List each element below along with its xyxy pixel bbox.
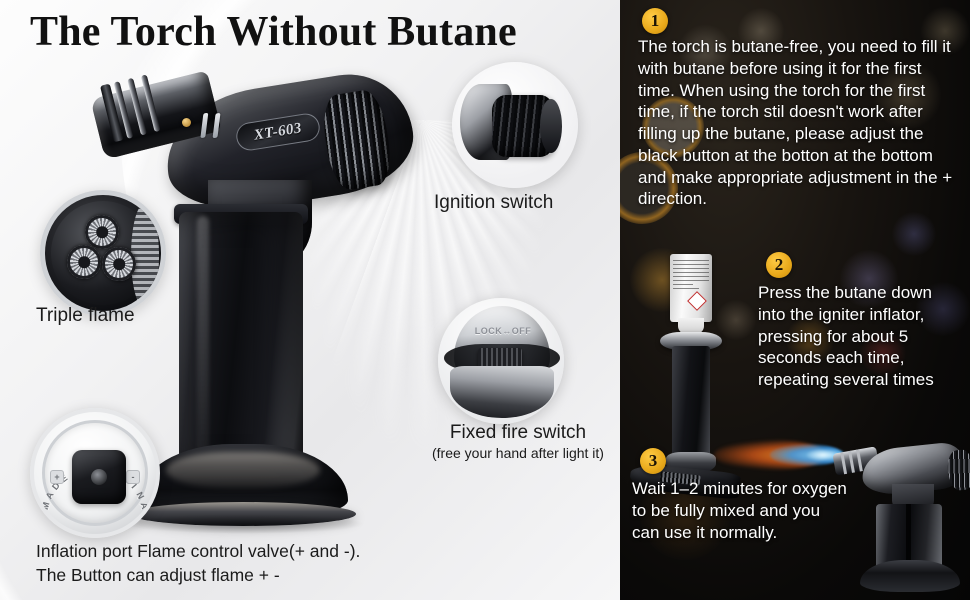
ignition-switch-inset xyxy=(452,62,578,188)
step-badge-3: 3 xyxy=(640,448,666,474)
torch-tank xyxy=(179,212,303,470)
plus-marker: + xyxy=(50,470,64,484)
instruction-step-1: 1 The torch is butane-free, you need to … xyxy=(638,8,958,210)
page-title: The Torch Without Butane xyxy=(30,8,517,56)
ignition-switch-label: Ignition switch xyxy=(434,192,553,214)
step-badge-2: 2 xyxy=(766,252,792,278)
instruction-step-3: 3 Wait 1–2 minutes for oxygen to be full… xyxy=(632,448,852,543)
fixed-fire-switch-title: Fixed fire switch xyxy=(450,422,586,443)
torch-shadow xyxy=(124,514,366,534)
fixed-fire-switch-inset: LOCK↔OFF xyxy=(438,298,564,424)
instruction-step-2: 2 Press the butane down into the igniter… xyxy=(758,252,954,391)
caption-line-1: Inflation port Flame control valve(+ and… xyxy=(36,540,360,564)
inverted-torch-tank xyxy=(672,346,710,456)
burner-nozzle-2 xyxy=(67,245,101,279)
hazard-diamond-icon xyxy=(687,291,707,311)
caption-line-2: The Button can adjust flame + - xyxy=(36,564,360,588)
step-text-1: The torch is butane-free, you need to fi… xyxy=(638,36,958,210)
torch-brass-screw xyxy=(182,118,191,127)
bokeh-light-9 xyxy=(892,212,936,256)
minus-marker: - xyxy=(126,470,140,484)
inflation-port-inset: MADE IN CHINA + - xyxy=(30,408,160,538)
product-panel: The Torch Without Butane XT-603 LOCK↔OFF xyxy=(0,0,620,600)
butane-canister xyxy=(670,254,712,322)
infographic-page: The Torch Without Butane XT-603 LOCK↔OFF xyxy=(0,0,970,600)
ignition-knob xyxy=(492,95,554,157)
step-text-3: Wait 1–2 minutes for oxygen to be fully … xyxy=(632,478,852,543)
lit-torch-base xyxy=(860,560,960,592)
fixed-fire-switch-label: Fixed fire switch (free your hand after … xyxy=(418,422,618,461)
burner-nozzle-3 xyxy=(102,247,136,281)
triple-flame-inset xyxy=(40,190,166,316)
instructions-panel: 1 The torch is butane-free, you need to … xyxy=(620,0,970,600)
step-badge-1: 1 xyxy=(642,8,668,34)
burner-nozzle-1 xyxy=(85,215,119,249)
flame-control-valve xyxy=(72,450,126,504)
burner-rim xyxy=(131,203,159,309)
lock-off-engraving: LOCK↔OFF xyxy=(466,326,540,336)
triple-flame-label: Triple flame xyxy=(36,305,135,327)
bottom-caption: Inflation port Flame control valve(+ and… xyxy=(36,540,360,587)
switch-base xyxy=(450,366,554,418)
fixed-fire-switch-subtitle: (free your hand after light it) xyxy=(418,445,618,461)
step-text-2: Press the butane down into the igniter i… xyxy=(758,282,954,391)
